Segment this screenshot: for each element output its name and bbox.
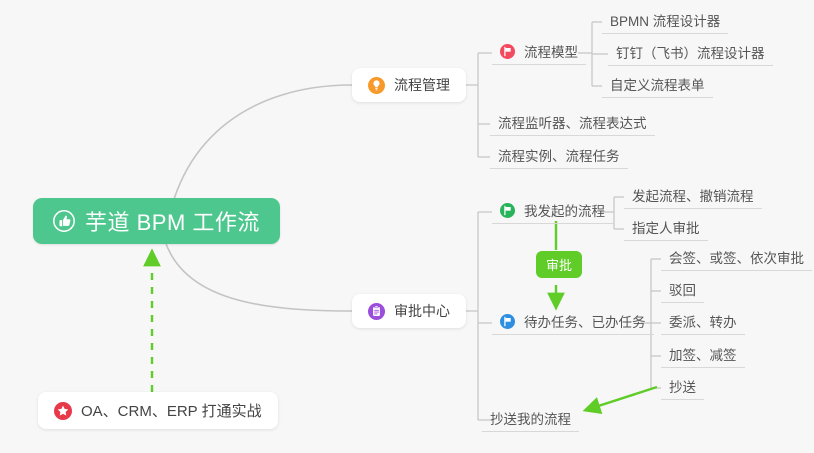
leaf-label-start-cancel-process: 发起流程、撤销流程 bbox=[632, 185, 754, 205]
root-node[interactable]: 芋道 BPM 工作流 bbox=[33, 198, 280, 244]
branch-node-approval-center[interactable]: 审批中心 bbox=[352, 294, 466, 328]
leaf-start-cancel-process[interactable]: 发起流程、撤销流程 bbox=[624, 185, 762, 209]
leaf-label-countersign: 会签、或签、依次审批 bbox=[669, 247, 804, 267]
footnote-label: OA、CRM、ERP 打通实战 bbox=[81, 400, 262, 421]
leaf-label-custom-form: 自定义流程表单 bbox=[610, 74, 705, 94]
leaf-add-remove-sign[interactable]: 加签、减签 bbox=[661, 344, 745, 368]
leaf-label-add-remove-sign: 加签、减签 bbox=[669, 344, 737, 364]
mindmap-canvas: 芋道 BPM 工作流 流程管理 流程模型 BPMN 流程设计器 钉钉（飞书）流程 bbox=[0, 0, 814, 453]
leaf-label-listener-expression: 流程监听器、流程表达式 bbox=[498, 112, 647, 132]
leaf-label-cc: 抄送 bbox=[669, 376, 696, 396]
arrow-cc-to-ccme bbox=[586, 387, 657, 410]
flag-icon-red bbox=[500, 44, 515, 59]
thumbs-up-icon bbox=[53, 210, 75, 232]
clipboard-icon bbox=[368, 303, 385, 320]
leaf-bpmn-designer[interactable]: BPMN 流程设计器 bbox=[602, 10, 728, 34]
leaf-label-reject: 驳回 bbox=[669, 279, 696, 299]
node-label-todo-done-tasks: 待办任务、已办任务 bbox=[524, 311, 646, 331]
node-my-initiated[interactable]: 我发起的流程 bbox=[492, 200, 613, 224]
branch-label-process-management: 流程管理 bbox=[394, 75, 450, 95]
flag-icon-blue bbox=[500, 314, 515, 329]
leaf-custom-form[interactable]: 自定义流程表单 bbox=[602, 74, 713, 98]
branch-node-process-management[interactable]: 流程管理 bbox=[352, 68, 466, 102]
footnote-node[interactable]: OA、CRM、ERP 打通实战 bbox=[38, 392, 278, 429]
link-root-to-approval-center bbox=[165, 241, 352, 311]
leaf-label-instance-task: 流程实例、流程任务 bbox=[498, 145, 620, 165]
lightbulb-icon bbox=[368, 77, 385, 94]
leaf-label-delegate-transfer: 委派、转办 bbox=[669, 311, 737, 331]
node-label-cc-to-me: 抄送我的流程 bbox=[490, 408, 571, 428]
leaf-label-bpmn-designer: BPMN 流程设计器 bbox=[610, 10, 720, 30]
node-cc-to-me[interactable]: 抄送我的流程 bbox=[482, 408, 579, 432]
leaf-label-dingtalk-designer: 钉钉（飞书）流程设计器 bbox=[616, 42, 765, 62]
leaf-cc[interactable]: 抄送 bbox=[661, 376, 704, 400]
approval-badge[interactable]: 审批 bbox=[536, 251, 582, 278]
leaf-dingtalk-designer[interactable]: 钉钉（飞书）流程设计器 bbox=[608, 42, 773, 66]
leaf-instance-task[interactable]: 流程实例、流程任务 bbox=[490, 145, 628, 169]
node-label-my-initiated: 我发起的流程 bbox=[524, 200, 605, 220]
leaf-reject[interactable]: 驳回 bbox=[661, 279, 704, 303]
node-process-model[interactable]: 流程模型 bbox=[492, 41, 586, 65]
node-label-process-model: 流程模型 bbox=[524, 41, 578, 61]
node-todo-done-tasks[interactable]: 待办任务、已办任务 bbox=[492, 311, 654, 335]
approval-badge-label: 审批 bbox=[546, 255, 572, 274]
root-label: 芋道 BPM 工作流 bbox=[85, 205, 260, 237]
leaf-label-assignee-approval: 指定人审批 bbox=[632, 217, 700, 237]
leaf-listener-expression[interactable]: 流程监听器、流程表达式 bbox=[490, 112, 655, 136]
leaf-assignee-approval[interactable]: 指定人审批 bbox=[624, 217, 708, 241]
branch-label-approval-center: 审批中心 bbox=[394, 301, 450, 321]
leaf-countersign[interactable]: 会签、或签、依次审批 bbox=[661, 247, 812, 271]
leaf-delegate-transfer[interactable]: 委派、转办 bbox=[661, 311, 745, 335]
star-icon bbox=[54, 402, 72, 420]
flag-icon-green bbox=[500, 203, 515, 218]
